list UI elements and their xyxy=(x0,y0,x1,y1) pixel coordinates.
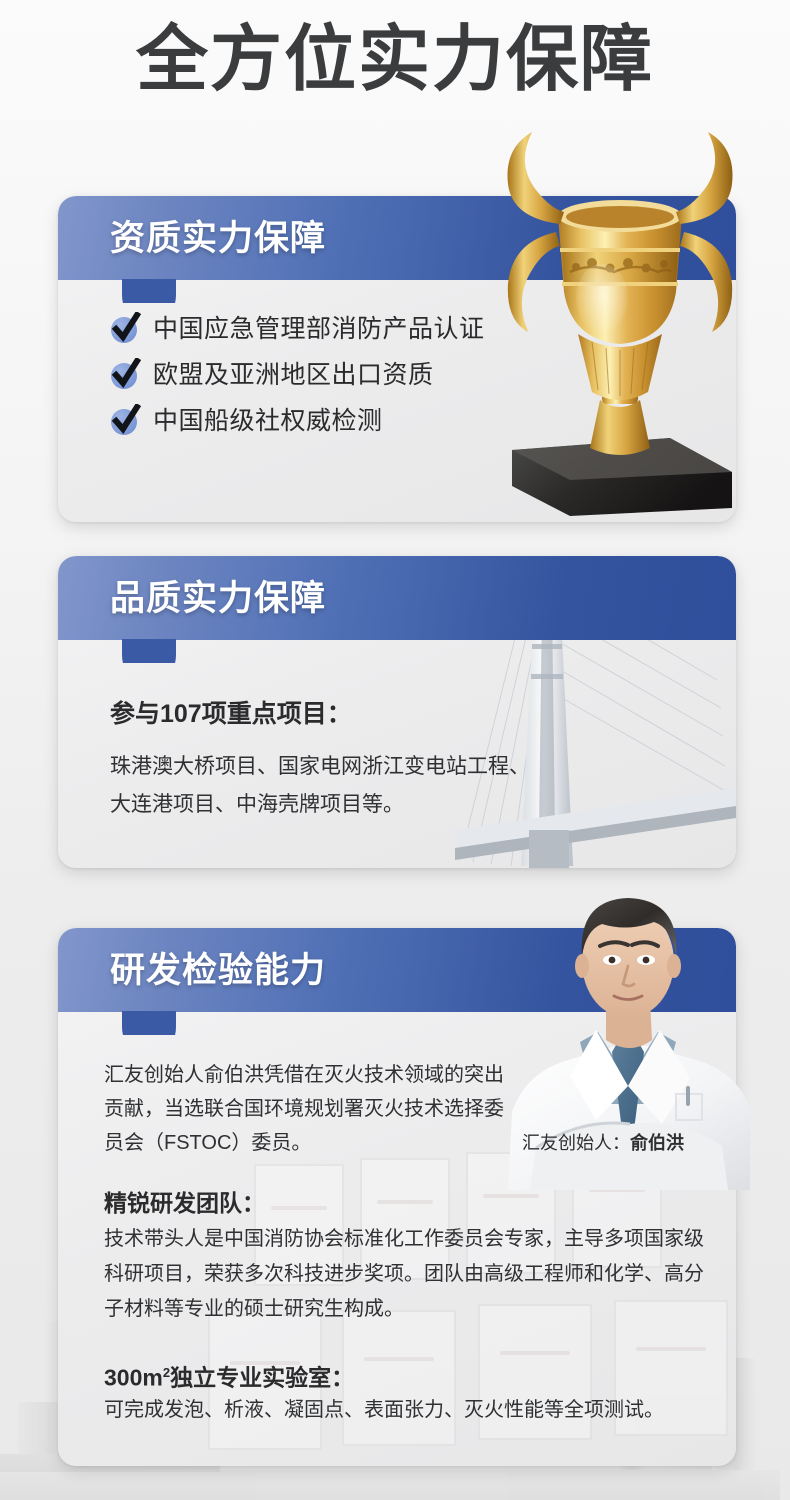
rnd-founder-paragraph: 汇友创始人俞伯洪凭借在灭火技术领域的突出贡献，当选联合国环境规划署灭火技术选择委… xyxy=(104,1058,516,1160)
list-item: 欧盟及亚洲地区出口资质 xyxy=(110,360,485,390)
card-rnd-title: 研发检验能力 xyxy=(110,948,326,994)
header-notch xyxy=(122,279,176,303)
founder-caption-name: 俞伯洪 xyxy=(630,1133,684,1153)
founder-portrait-caption: 汇友创始人：俞伯洪 xyxy=(522,1132,684,1154)
rnd-lab-heading-rest: 独立专业实验室： xyxy=(170,1365,354,1391)
check-mark-icon xyxy=(110,314,140,344)
rnd-lab-heading-area: 300m xyxy=(104,1365,163,1391)
card-qualification-surface: 资质实力保障 中国应急管理部消防产品认证 欧盟及亚洲地区出 xyxy=(58,196,736,522)
check-mark-icon xyxy=(110,360,140,390)
quality-body-text: 珠港澳大桥项目、国家电网浙江变电站工程、 大连港项目、中海壳牌项目等。 xyxy=(110,748,540,824)
list-item: 中国应急管理部消防产品认证 xyxy=(110,314,485,344)
card-quality-title: 品质实力保障 xyxy=(110,576,326,622)
card-qualification-title: 资质实力保障 xyxy=(110,216,326,262)
check-mark-icon xyxy=(110,406,140,436)
qualification-list: 中国应急管理部消防产品认证 欧盟及亚洲地区出口资质 中国 xyxy=(110,314,485,452)
quality-lead-text: 参与107项重点项目： xyxy=(110,698,352,730)
card-qualification: 资质实力保障 中国应急管理部消防产品认证 欧盟及亚洲地区出 xyxy=(58,196,736,522)
rnd-lab-paragraph: 可完成发泡、析液、凝固点、表面张力、灭火性能等全项测试。 xyxy=(104,1394,724,1426)
list-item: 中国船级社权威检测 xyxy=(110,406,485,436)
rnd-team-heading: 精锐研发团队： xyxy=(104,1188,265,1218)
header-notch xyxy=(122,1011,176,1035)
list-item-label: 中国船级社权威检测 xyxy=(153,406,383,436)
list-item-label: 中国应急管理部消防产品认证 xyxy=(153,314,485,344)
rnd-lab-heading-superscript: 2 xyxy=(163,1365,170,1380)
page-title: 全方位实力保障 xyxy=(0,18,790,102)
rnd-team-paragraph: 技术带头人是中国消防协会标准化工作委员会专家，主导多项国家级科研项目，荣获多次科… xyxy=(104,1222,704,1327)
list-item-label: 欧盟及亚洲地区出口资质 xyxy=(153,360,434,390)
quality-body-line: 珠港澳大桥项目、国家电网浙江变电站工程、 xyxy=(110,748,540,786)
founder-caption-label: 汇友创始人： xyxy=(522,1133,630,1153)
header-notch xyxy=(122,639,176,663)
rnd-lab-heading: 300m2独立专业实验室： xyxy=(104,1358,354,1393)
card-quality: 品质实力保障 参与107项重点项目： 珠港澳大桥项目、国家电网浙江变电站工程、 … xyxy=(58,556,736,868)
quality-body-line: 大连港项目、中海壳牌项目等。 xyxy=(110,786,540,824)
card-quality-surface: 品质实力保障 参与107项重点项目： 珠港澳大桥项目、国家电网浙江变电站工程、 … xyxy=(58,556,736,868)
